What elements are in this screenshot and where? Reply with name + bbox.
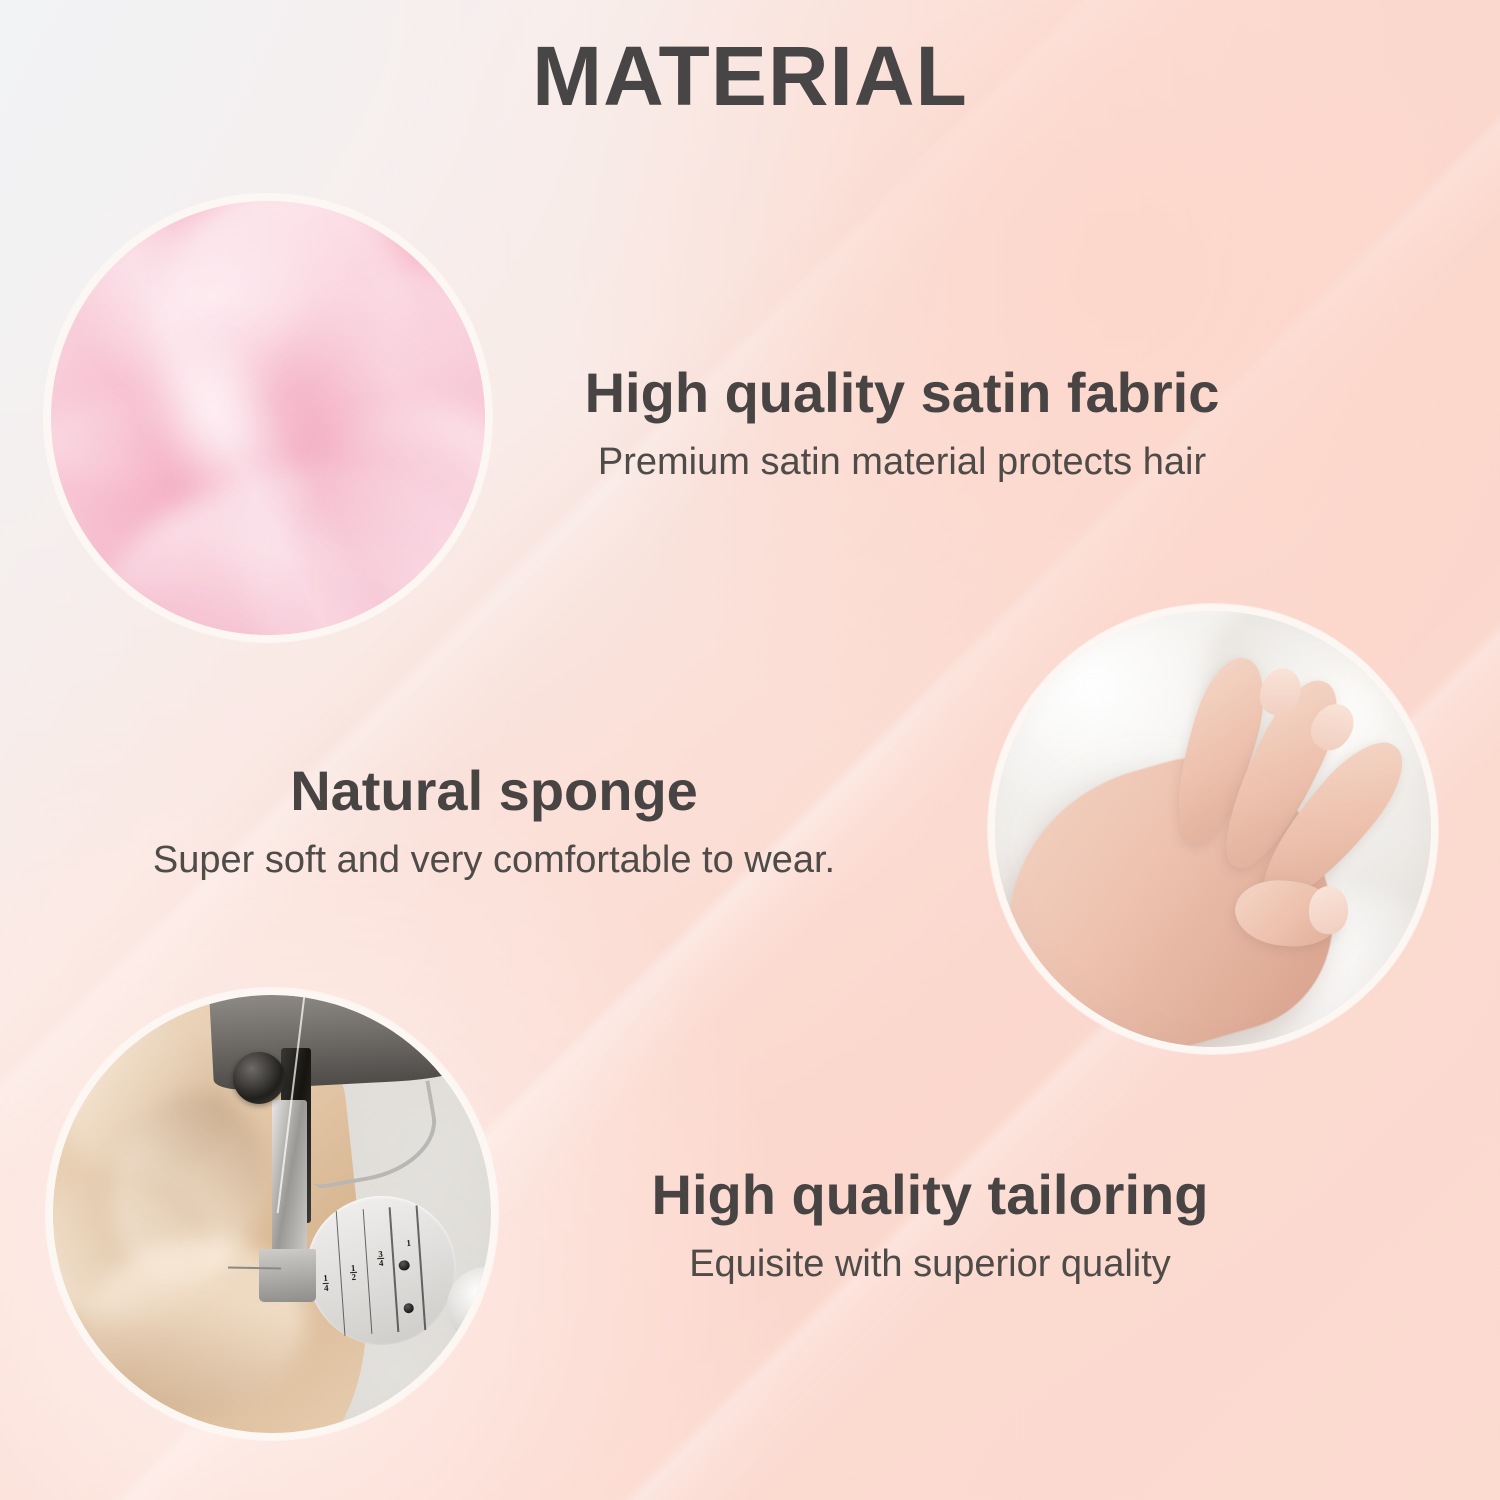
feature-subtitle-high-quality-tailoring: Equisite with superior quality <box>406 1244 1454 1285</box>
feature-heading-natural-sponge: Natural sponge <box>16 762 972 820</box>
plate-screw-bottom <box>403 1303 414 1314</box>
feature-text-natural-sponge: Natural sponge Super soft and very comfo… <box>0 762 1500 881</box>
page-title: MATERIAL <box>0 34 1500 118</box>
feature-heading-satin-fabric: High quality satin fabric <box>352 364 1452 422</box>
feature-text-high-quality-tailoring: High quality tailoring Equisite with sup… <box>0 1166 1500 1285</box>
feature-subtitle-satin-fabric: Premium satin material protects hair <box>352 442 1452 483</box>
feature-text-satin-fabric: High quality satin fabric Premium satin … <box>0 364 1500 483</box>
feature-heading-high-quality-tailoring: High quality tailoring <box>406 1166 1454 1224</box>
feature-subtitle-natural-sponge: Super soft and very comfortable to wear. <box>16 840 972 881</box>
